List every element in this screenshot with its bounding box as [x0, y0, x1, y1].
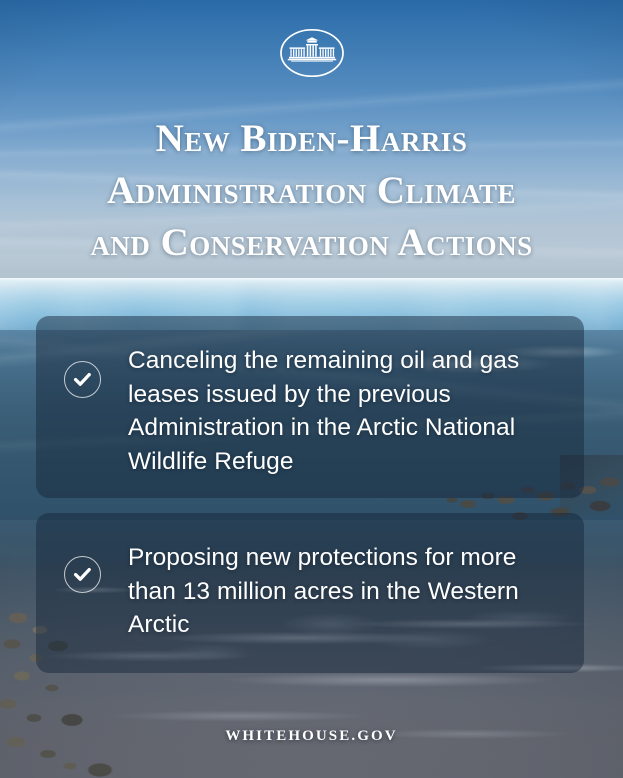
action-card-text: Proposing new protections for more than …	[128, 539, 562, 642]
title-line-1: New Biden-Harris	[30, 113, 593, 165]
title-line-2: Administration Climate	[30, 165, 593, 217]
checkmark-icon	[73, 565, 92, 584]
seal-container	[0, 28, 623, 78]
page-title: New Biden-Harris Administration Climate …	[30, 113, 593, 269]
title-line-3: and Conservation Actions	[30, 217, 593, 269]
poster-graphic: New Biden-Harris Administration Climate …	[0, 0, 623, 778]
action-card: Canceling the remaining oil and gas leas…	[36, 316, 584, 498]
white-house-seal-icon	[279, 28, 345, 78]
checkmark-icon	[73, 370, 92, 389]
action-card-text: Canceling the remaining oil and gas leas…	[128, 342, 562, 478]
check-circle-icon	[64, 361, 101, 398]
footer-wordmark: WHITEHOUSE.GOV	[0, 728, 623, 745]
action-card: Proposing new protections for more than …	[36, 513, 584, 673]
check-circle-icon	[64, 556, 101, 593]
